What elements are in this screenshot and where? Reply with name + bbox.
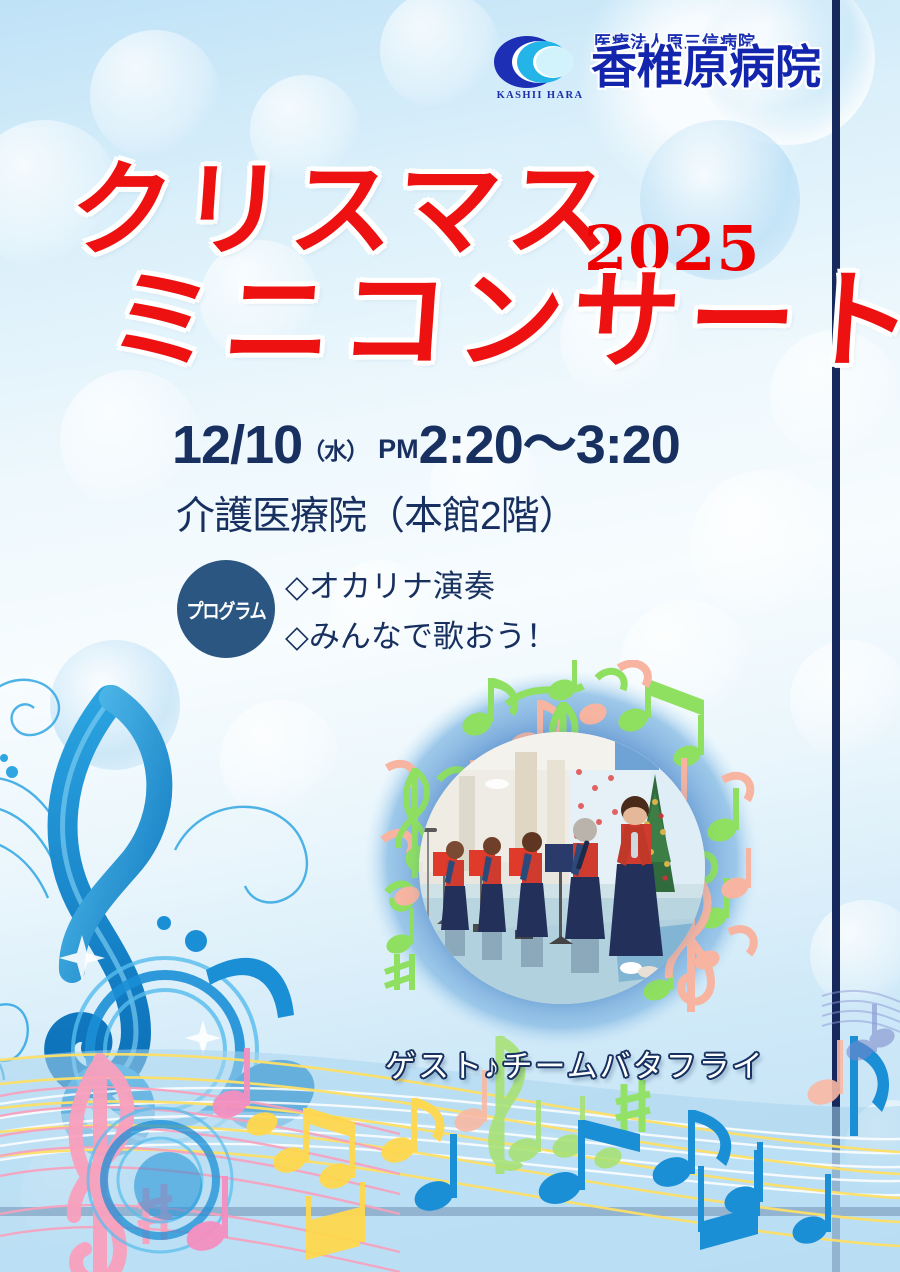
program-item: ◇オカリナ演奏 (285, 561, 495, 606)
program-item: ◇みんなで歌おう！ (285, 611, 557, 656)
event-venue: 介護医療院（本館2階） (176, 485, 577, 541)
frame-vertical-line (832, 0, 840, 1272)
blue-treble-clef-decoration (0, 640, 390, 1200)
event-date-time: 12/10（水）PM2:20〜3:20 (172, 418, 680, 472)
kashii-hara-crescent-logo-icon (493, 34, 585, 92)
guest-label: ゲスト♪チームバタフライ (385, 1041, 765, 1086)
program-badge-label: プログラム (186, 595, 265, 624)
title-line-1: クリスマス (66, 158, 620, 262)
concert-performers-photo (419, 732, 705, 1004)
program-badge: プログラム (177, 560, 275, 658)
event-date: 12/10 (172, 415, 302, 475)
event-time-prefix: PM (368, 434, 419, 464)
frame-horizontal-line (0, 1207, 900, 1216)
event-time-value: 2:20〜3:20 (419, 415, 680, 475)
title-line-2: ミニコンサート (104, 268, 900, 376)
hospital-logo-block: KASHII HARA 医療法人原三信病院 香椎原病院 (493, 28, 823, 106)
event-weekday: （水） (302, 438, 368, 464)
photo-circle (357, 660, 767, 1055)
logo-hospital-name: 香椎原病院 (591, 44, 821, 90)
logo-romaji: KASHII HARA (495, 90, 585, 101)
concert-poster: KASHII HARA 医療法人原三信病院 香椎原病院 クリスマス 2025 ミ… (0, 0, 900, 1272)
